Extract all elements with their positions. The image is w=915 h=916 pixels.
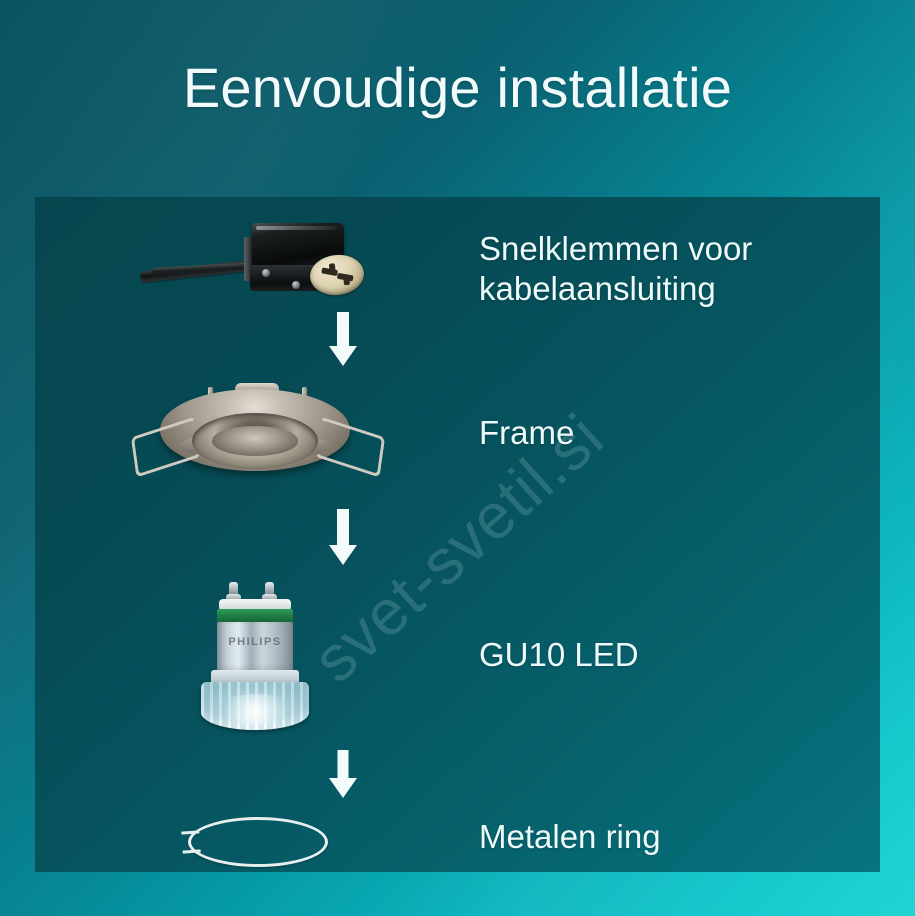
socket-slot bbox=[343, 276, 350, 286]
arrow-head bbox=[329, 778, 357, 798]
step-row-1: Snelklemmen voor kabelaansluiting bbox=[35, 207, 880, 327]
socket-slot bbox=[329, 263, 336, 273]
recessed-frame-icon bbox=[130, 375, 380, 485]
step-row-4: Metalen ring bbox=[35, 807, 880, 872]
green-band bbox=[217, 609, 293, 623]
arrow-head bbox=[329, 346, 357, 366]
lens-highlight bbox=[216, 694, 294, 725]
step-1-label: Snelklemmen voor kabelaansluiting bbox=[479, 229, 752, 310]
spring-clip-icon bbox=[315, 416, 385, 477]
arrow-shaft bbox=[337, 312, 349, 350]
step-2-label: Frame bbox=[479, 413, 574, 453]
step-4-label: Metalen ring bbox=[479, 817, 661, 857]
arrow-head bbox=[329, 545, 357, 565]
steps-panel: Snelklemmen voor kabelaansluiting Frame bbox=[35, 197, 880, 872]
lamp-holder-quick-connector-icon bbox=[140, 215, 370, 305]
spring-clip-icon bbox=[131, 416, 201, 477]
step-3-art: PHILIPS bbox=[35, 582, 475, 732]
lamp-lens bbox=[201, 682, 309, 730]
lamp-barrel bbox=[217, 622, 293, 674]
step-row-2: Frame bbox=[35, 375, 880, 505]
gu10-led-lamp-icon: PHILIPS bbox=[195, 582, 315, 732]
step-row-3: PHILIPS GU10 LED bbox=[35, 582, 880, 742]
page-title: Eenvoudige installatie bbox=[0, 57, 915, 119]
step-4-art bbox=[35, 811, 475, 869]
metal-spring-ring-icon bbox=[180, 811, 330, 869]
step-1-art bbox=[35, 215, 475, 305]
screw-icon bbox=[262, 269, 270, 277]
frame-inner-ring bbox=[192, 413, 318, 469]
philips-brand-text: PHILIPS bbox=[217, 636, 293, 648]
step-3-label: GU10 LED bbox=[479, 635, 639, 675]
installation-diagram-image: Eenvoudige installatie bbox=[0, 0, 915, 916]
screw-icon bbox=[292, 281, 300, 289]
ring-wire bbox=[188, 817, 328, 867]
arrow-shaft bbox=[337, 509, 349, 549]
step-2-art bbox=[35, 375, 475, 485]
ring-gap bbox=[181, 830, 200, 853]
